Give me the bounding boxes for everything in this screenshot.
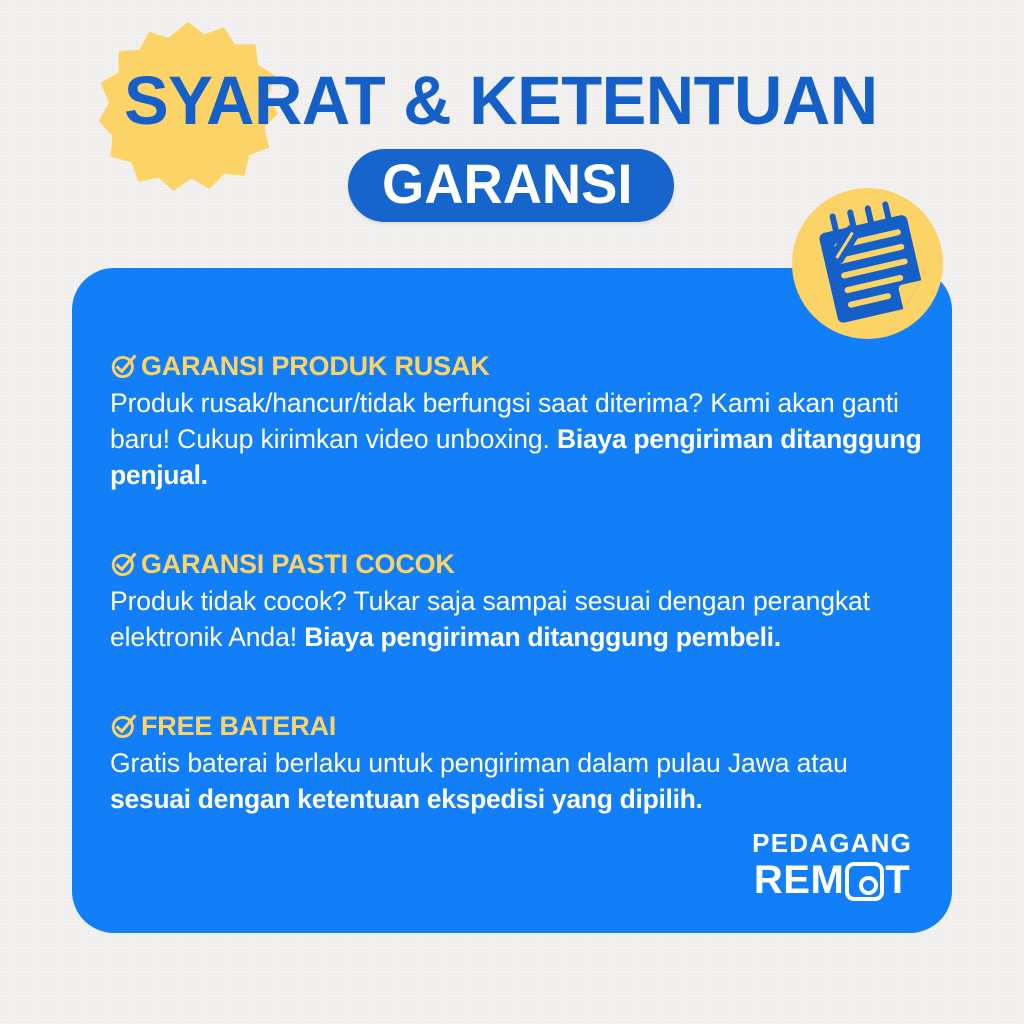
brand-logo-line2-after: T xyxy=(885,859,910,901)
terms-section: GARANSI PASTI COCOK Produk tidak cocok? … xyxy=(110,549,925,655)
remote-button-icon xyxy=(845,862,884,901)
terms-section-header: FREE BATERAI xyxy=(110,711,925,741)
brand-logo-line2: REM T xyxy=(752,859,912,901)
terms-card: GARANSI PRODUK RUSAK Produk rusak/hancur… xyxy=(72,268,952,933)
check-circle-icon xyxy=(110,549,137,578)
terms-section-header: GARANSI PASTI COCOK xyxy=(110,549,925,579)
brand-logo: PEDAGANG REM T xyxy=(752,829,912,901)
page-title: SYARAT & KETENTUAN xyxy=(124,66,878,135)
terms-section: GARANSI PRODUK RUSAK Produk rusak/hancur… xyxy=(110,351,925,493)
terms-section: FREE BATERAI Gratis baterai berlaku untu… xyxy=(110,711,925,817)
terms-section-title: FREE BATERAI xyxy=(141,711,336,741)
page-subtitle-pill: GARANSI xyxy=(348,149,674,222)
terms-section-body: Produk tidak cocok? Tukar saja sampai se… xyxy=(110,583,925,655)
terms-section-title: GARANSI PRODUK RUSAK xyxy=(141,351,490,381)
poster-canvas: SYARAT & KETENTUAN GARANSI xyxy=(0,0,1024,1024)
terms-section-body: Gratis baterai berlaku untuk pengiriman … xyxy=(110,745,925,817)
terms-section-list: GARANSI PRODUK RUSAK Produk rusak/hancur… xyxy=(110,351,925,817)
check-circle-icon xyxy=(110,351,137,380)
terms-section-header: GARANSI PRODUK RUSAK xyxy=(110,351,925,381)
brand-logo-line2-before: REM xyxy=(754,859,844,901)
terms-section-title: GARANSI PASTI COCOK xyxy=(141,549,455,579)
notepad-pencil-icon xyxy=(792,188,943,339)
brand-logo-line1: PEDAGANG xyxy=(752,829,912,857)
body-text-regular: Gratis baterai berlaku untuk pengiriman … xyxy=(110,748,848,778)
check-circle-icon xyxy=(110,711,137,740)
terms-section-body: Produk rusak/hancur/tidak berfungsi saat… xyxy=(110,385,925,493)
body-text-bold: sesuai dengan ketentuan ekspedisi yang d… xyxy=(110,784,703,814)
page-subtitle: GARANSI xyxy=(382,155,632,213)
body-text-bold: Biaya pengiriman ditanggung pembeli. xyxy=(304,622,781,652)
